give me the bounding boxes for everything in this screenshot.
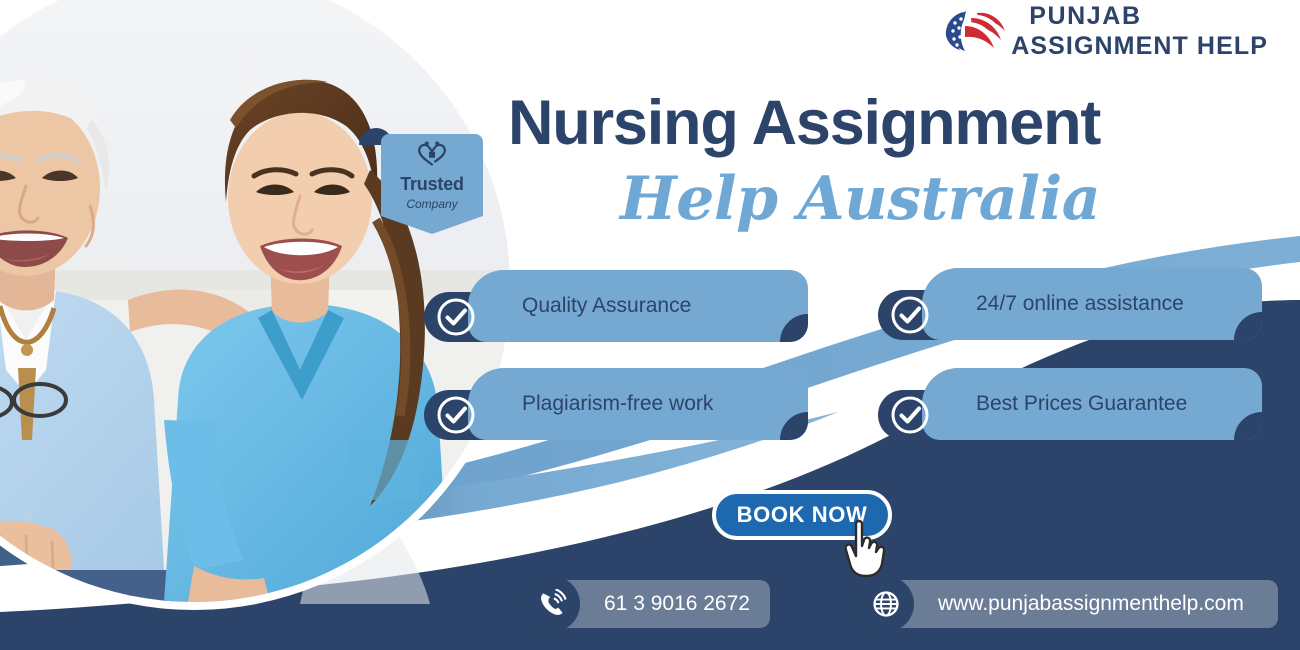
- feature-pill-body: Plagiarism-free work: [468, 368, 808, 440]
- contact-text: 61 3 9016 2672: [552, 592, 772, 616]
- feature-pill-corner-notch: [1234, 312, 1262, 340]
- headline-group: Nursing Assignment Help Australia: [508, 92, 1100, 229]
- logo-line-punjab: PUNJAB: [1029, 4, 1268, 29]
- feature-pill-body: Best Prices Guarantee: [922, 368, 1262, 440]
- contact-pill: www.punjabassignmenthelp.com: [886, 580, 1278, 628]
- feature-pill-corner-notch: [780, 412, 808, 440]
- check-circle-icon: [434, 295, 478, 339]
- feature-pill-label: Quality Assurance: [468, 294, 721, 318]
- feature-pill-body: 24/7 online assistance: [922, 268, 1262, 340]
- feature-pill-corner-notch: [1234, 412, 1262, 440]
- headline-primary: Nursing Assignment: [508, 92, 1100, 155]
- usa-flag-swoosh-icon: [943, 9, 1007, 55]
- brand-logo[interactable]: PUNJAB ASSIGNMENT HELP: [943, 4, 1268, 59]
- feature-pill-corner-notch: [780, 314, 808, 342]
- phone-ringing-icon: [524, 576, 580, 632]
- badge-subtitle: Company: [381, 197, 483, 211]
- check-circle-icon: [434, 393, 478, 437]
- heart-family-home-icon: [417, 141, 447, 167]
- badge-title: Trusted: [381, 174, 483, 195]
- badge-body: Trusted Company: [381, 134, 483, 234]
- pointing-hand-cursor-icon: [840, 518, 892, 578]
- feature-pill-label: Plagiarism-free work: [468, 392, 743, 416]
- check-circle-icon: [888, 293, 932, 337]
- feature-pill-body: Quality Assurance: [468, 270, 808, 342]
- promo-banner: PUNJAB ASSIGNMENT HELP Trusted Company N…: [0, 0, 1300, 650]
- contact-text: www.punjabassignmenthelp.com: [886, 592, 1266, 616]
- feature-pill-label: Best Prices Guarantee: [922, 392, 1217, 416]
- check-circle-icon: [888, 393, 932, 437]
- logo-line-assignment-help: ASSIGNMENT HELP: [1011, 34, 1268, 59]
- feature-pill-label: 24/7 online assistance: [922, 292, 1214, 316]
- globe-icon: [858, 576, 914, 632]
- contact-pill: 61 3 9016 2672: [552, 580, 770, 628]
- headline-script: Help Australia: [508, 169, 1100, 229]
